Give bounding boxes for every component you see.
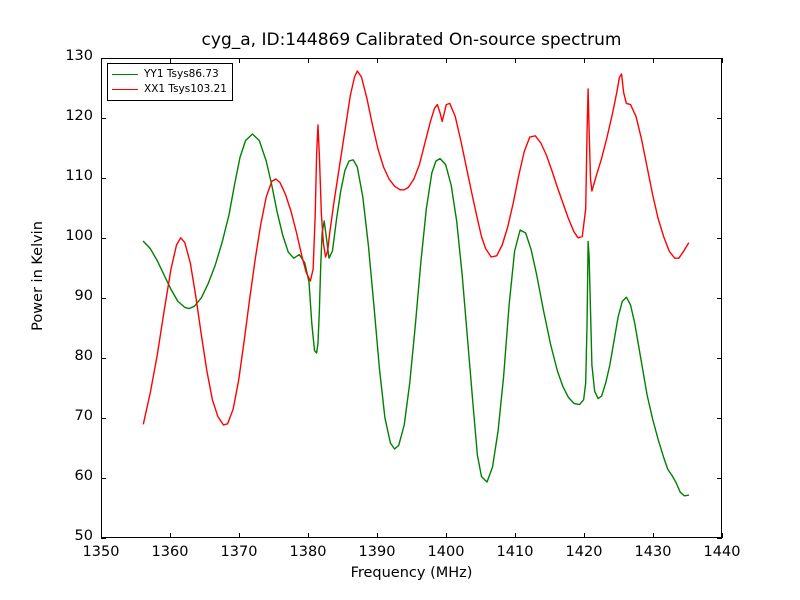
x-tick-top-1380 (308, 58, 309, 63)
y-tick-70 (101, 418, 106, 419)
y-tick-right-110 (717, 178, 722, 179)
x-tick-1390 (377, 533, 378, 538)
legend-item-1: YY1 Tsys86.73 (112, 67, 227, 82)
y-tick-right-130 (717, 58, 722, 59)
figure-canvas: cyg_a, ID:144869 Calibrated On-source sp… (0, 0, 800, 600)
x-tick-top-1410 (515, 58, 516, 63)
x-tick-1360 (170, 533, 171, 538)
y-tick-right-120 (717, 118, 722, 119)
legend: YY1 Tsys86.73XX1 Tsys103.21 (107, 63, 233, 101)
y-tick-right-90 (717, 298, 722, 299)
x-tick-1440 (722, 533, 723, 538)
y-tick-60 (101, 478, 106, 479)
x-tick-top-1420 (584, 58, 585, 63)
legend-swatch-2 (112, 89, 138, 90)
y-tick-130 (101, 58, 106, 59)
x-tick-label-1360: 1360 (140, 544, 200, 560)
plot-area (101, 58, 722, 538)
legend-label-2: XX1 Tsys103.21 (144, 84, 227, 95)
y-tick-100 (101, 238, 106, 239)
x-tick-top-1440 (722, 58, 723, 63)
x-tick-1420 (584, 533, 585, 538)
y-tick-label-80: 80 (51, 348, 93, 364)
x-tick-label-1400: 1400 (416, 544, 476, 560)
x-axis-label: Frequency (MHz) (101, 565, 722, 581)
y-tick-right-100 (717, 238, 722, 239)
curve-svg (102, 59, 723, 539)
y-tick-right-60 (717, 478, 722, 479)
legend-item-2: XX1 Tsys103.21 (112, 82, 227, 97)
y-tick-80 (101, 358, 106, 359)
legend-swatch-1 (112, 74, 138, 75)
x-tick-1370 (239, 533, 240, 538)
y-tick-right-70 (717, 418, 722, 419)
x-tick-label-1410: 1410 (485, 544, 545, 560)
y-tick-right-80 (717, 358, 722, 359)
y-tick-label-100: 100 (51, 228, 93, 244)
series-line-1 (143, 134, 688, 496)
y-tick-label-60: 60 (51, 468, 93, 484)
x-tick-1400 (446, 533, 447, 538)
x-tick-1410 (515, 533, 516, 538)
y-tick-120 (101, 118, 106, 119)
x-tick-top-1370 (239, 58, 240, 63)
y-tick-110 (101, 178, 106, 179)
y-tick-90 (101, 298, 106, 299)
x-tick-label-1380: 1380 (278, 544, 338, 560)
x-tick-top-1430 (653, 58, 654, 63)
y-tick-label-130: 130 (51, 48, 93, 64)
x-tick-label-1370: 1370 (209, 544, 269, 560)
y-tick-right-50 (717, 538, 722, 539)
y-tick-50 (101, 538, 106, 539)
x-tick-label-1390: 1390 (347, 544, 407, 560)
x-tick-1430 (653, 533, 654, 538)
legend-label-1: YY1 Tsys86.73 (144, 69, 219, 80)
series-line-2 (143, 71, 688, 425)
page-title: cyg_a, ID:144869 Calibrated On-source sp… (101, 30, 722, 50)
y-tick-label-50: 50 (51, 528, 93, 544)
y-tick-label-70: 70 (51, 408, 93, 424)
x-tick-label-1440: 1440 (692, 544, 752, 560)
x-tick-top-1390 (377, 58, 378, 63)
x-tick-top-1400 (446, 58, 447, 63)
y-axis-label: Power in Kelvin (30, 176, 46, 376)
x-tick-label-1350: 1350 (71, 544, 131, 560)
y-tick-label-120: 120 (51, 108, 93, 124)
y-tick-label-90: 90 (51, 288, 93, 304)
x-tick-1380 (308, 533, 309, 538)
x-tick-label-1430: 1430 (623, 544, 683, 560)
y-tick-label-110: 110 (51, 168, 93, 184)
x-tick-label-1420: 1420 (554, 544, 614, 560)
